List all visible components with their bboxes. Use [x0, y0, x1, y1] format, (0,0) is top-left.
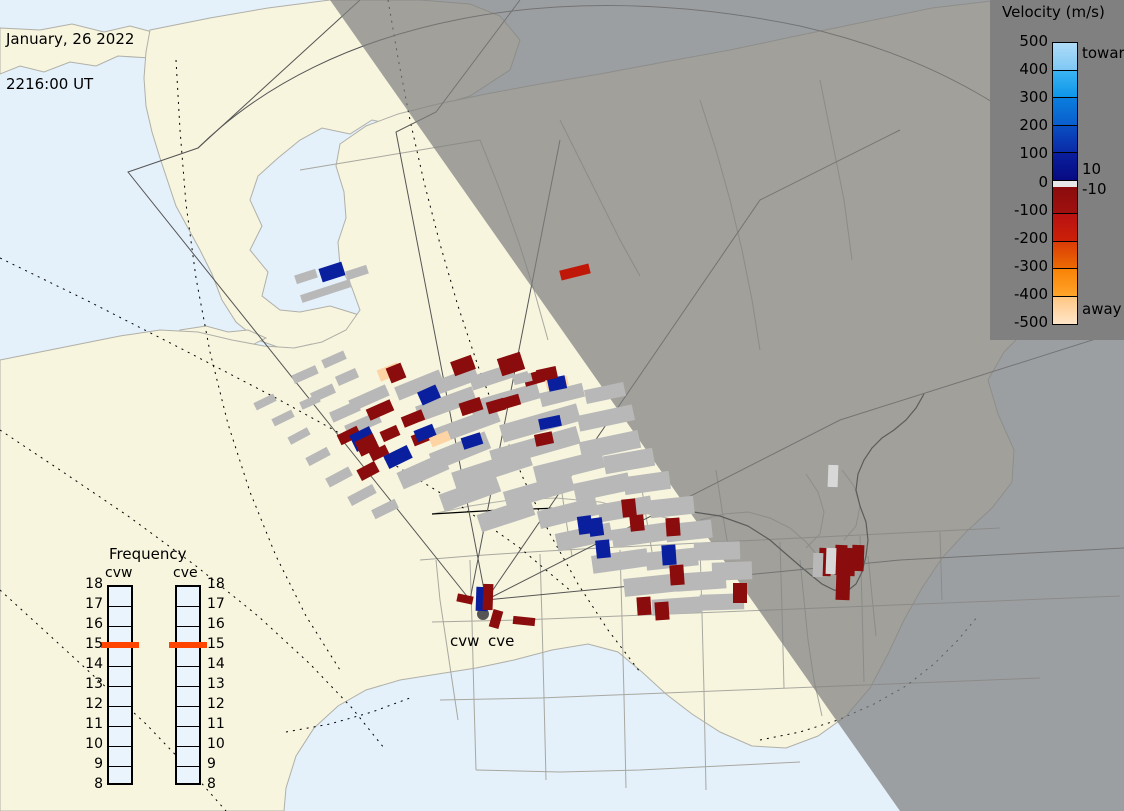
velocity-cell: [356, 461, 379, 481]
ground-scatter-cell: [335, 368, 359, 386]
frequency-tick-cve-9: 9: [207, 756, 227, 772]
velocity-tick-200: 200: [988, 116, 1048, 134]
frequency-segment: [177, 707, 199, 727]
timestamp-date: January, 26 2022: [6, 32, 134, 47]
velocity-tick--200: -200: [988, 229, 1048, 247]
velocity-colorbar: Velocity (m/s) 5004003002001000-100-200-…: [990, 0, 1124, 340]
ground-scatter-cell: [345, 265, 369, 280]
frequency-tick-cvw-17: 17: [85, 596, 103, 612]
ground-scatter-cell: [828, 465, 839, 487]
frequency-bar-cve: [175, 585, 201, 785]
ground-scatter-cell: [294, 269, 318, 284]
velocity-tick-100: 100: [988, 144, 1048, 162]
frequency-tick-cvw-12: 12: [85, 696, 103, 712]
ground-scatter-cell: [329, 400, 361, 422]
velocity-tick-0: 0: [988, 173, 1048, 191]
velocity-away-label: away: [1082, 300, 1122, 318]
frequency-tick-cvw-9: 9: [85, 756, 103, 772]
frequency-segment: [177, 687, 199, 707]
frequency-segment: [109, 607, 131, 627]
frequency-tick-cvw-16: 16: [85, 616, 103, 632]
velocity-tick--500: -500: [988, 313, 1048, 331]
ground-scatter-cell: [577, 404, 635, 431]
velocity-cell: [595, 539, 611, 558]
ground-scatter-cell: [287, 427, 310, 444]
velocity-tick-300: 300: [988, 88, 1048, 106]
velocity-band-200-to-100: [1053, 126, 1077, 154]
velocity-band--200-to--300: [1053, 242, 1077, 270]
velocity-cell: [588, 517, 604, 537]
velocity-band-400-to-300: [1053, 71, 1077, 99]
velocity-cell: [669, 565, 684, 586]
velocity-cell: [733, 583, 747, 603]
ground-scatter-cell: [573, 472, 632, 501]
frequency-tick-cve-13: 13: [207, 676, 227, 692]
ground-scatter-cell: [321, 351, 347, 369]
velocity-cell: [636, 597, 651, 616]
velocity-band--10-to--100: [1053, 187, 1077, 215]
velocity-cell: [456, 593, 473, 604]
frequency-tick-cve-17: 17: [207, 596, 227, 612]
frequency-segment: [109, 647, 131, 667]
timestamp-time: 2216:00 UT: [6, 77, 134, 92]
frequency-tick-cve-10: 10: [207, 736, 227, 752]
velocity-cell: [380, 425, 401, 442]
ground-scatter-cell: [299, 394, 321, 409]
ground-scatter-cell: [253, 394, 276, 411]
frequency-tick-cve-15: 15: [207, 636, 227, 652]
velocity-band--300-to--400: [1053, 269, 1077, 297]
frequency-tick-cvw-15: 15: [85, 636, 103, 652]
ground-scatter-cell: [291, 365, 318, 384]
ground-scatter-cell: [271, 410, 294, 427]
frequency-column-name-cve: cve: [173, 565, 198, 581]
ground-scatter-cell: [371, 499, 399, 519]
ground-scatter-cell: [477, 498, 536, 532]
velocity-cell: [835, 570, 850, 600]
frequency-tick-cvw-18: 18: [85, 576, 103, 592]
frequency-segment: [109, 747, 131, 767]
frequency-segment: [177, 747, 199, 767]
frequency-segment: [177, 587, 199, 607]
velocity-tick-500: 500: [988, 32, 1048, 50]
frequency-segment: [109, 727, 131, 747]
velocity-cell: [513, 616, 536, 626]
frequency-tick-cve-18: 18: [207, 576, 227, 592]
velocity-cell: [483, 584, 494, 610]
frequency-tick-cvw-13: 13: [85, 676, 103, 692]
velocity-cell: [383, 445, 413, 469]
velocity-band-300-to-200: [1053, 98, 1077, 126]
velocity-colorbar-strip: [1052, 42, 1078, 325]
frequency-tick-cvw-14: 14: [85, 656, 103, 672]
ground-scatter-cell: [649, 496, 695, 519]
frequency-segment: [109, 687, 131, 707]
velocity-cell: [401, 409, 426, 427]
velocity-cell: [852, 545, 865, 571]
frequency-tick-cvw-8: 8: [85, 776, 103, 792]
ground-scatter-cell: [300, 279, 352, 303]
ground-scatter-cell: [325, 466, 353, 487]
velocity-cell: [318, 262, 345, 283]
frequency-segment: [177, 667, 199, 687]
velocity-cell: [661, 545, 676, 566]
frequency-segment: [177, 767, 199, 787]
frequency-column-name-cvw: cvw: [105, 565, 132, 581]
frequency-legend: Frequency cvw18171615141312111098cve1817…: [85, 545, 245, 790]
frequency-segment: [177, 607, 199, 627]
velocity-toward-label: toward: [1082, 44, 1124, 62]
ground-scatter-cell: [826, 548, 837, 574]
velocity-cell: [665, 518, 680, 537]
frequency-bar-cvw: [107, 585, 133, 785]
frequency-segment: [177, 727, 199, 747]
frequency-segment: [109, 667, 131, 687]
velocity-cell: [489, 609, 504, 629]
frequency-tick-cve-16: 16: [207, 616, 227, 632]
ground-scatter-cell: [623, 471, 671, 495]
frequency-tick-cvw-11: 11: [85, 716, 103, 732]
velocity-zero-upper-label: 10: [1082, 160, 1101, 178]
radar-map-canvas: January, 26 2022 2216:00 UT Velocity (m/…: [0, 0, 1124, 811]
ground-scatter-cell: [584, 382, 626, 404]
frequency-tick-cve-14: 14: [207, 656, 227, 672]
velocity-cell: [621, 498, 637, 517]
timestamp-overlay: January, 26 2022 2216:00 UT: [6, 2, 134, 122]
site-label-cvw: cvw: [450, 632, 479, 650]
velocity-tick--100: -100: [988, 201, 1048, 219]
frequency-tick-cve-8: 8: [207, 776, 227, 792]
ground-scatter-cell: [712, 561, 753, 580]
velocity-band-500-to-400: [1053, 43, 1077, 71]
velocity-tick-400: 400: [988, 60, 1048, 78]
ground-scatter-cell: [813, 553, 824, 577]
frequency-marker-cve: [169, 642, 207, 648]
ground-scatter-cell: [305, 447, 330, 466]
ground-scatter-cell: [347, 484, 376, 506]
frequency-tick-cvw-10: 10: [85, 736, 103, 752]
frequency-marker-cvw: [101, 642, 139, 648]
velocity-tick--400: -400: [988, 285, 1048, 303]
velocity-colorbar-title: Velocity (m/s): [1002, 3, 1105, 21]
frequency-tick-cve-11: 11: [207, 716, 227, 732]
site-label-cve: cve: [488, 632, 514, 650]
frequency-segment: [109, 767, 131, 787]
ground-scatter-cell: [694, 541, 741, 561]
velocity-cell: [559, 264, 591, 281]
frequency-legend-title: Frequency: [109, 545, 187, 563]
velocity-band--100-to--200: [1053, 214, 1077, 242]
frequency-segment: [177, 647, 199, 667]
velocity-zero-lower-label: -10: [1082, 180, 1107, 198]
velocity-cell: [629, 514, 645, 531]
velocity-cell: [654, 602, 669, 621]
frequency-tick-cve-12: 12: [207, 696, 227, 712]
velocity-band--400-to--500: [1053, 297, 1077, 325]
velocity-band-100-to-10: [1053, 153, 1077, 181]
frequency-segment: [109, 587, 131, 607]
velocity-tick--300: -300: [988, 257, 1048, 275]
frequency-segment: [109, 707, 131, 727]
